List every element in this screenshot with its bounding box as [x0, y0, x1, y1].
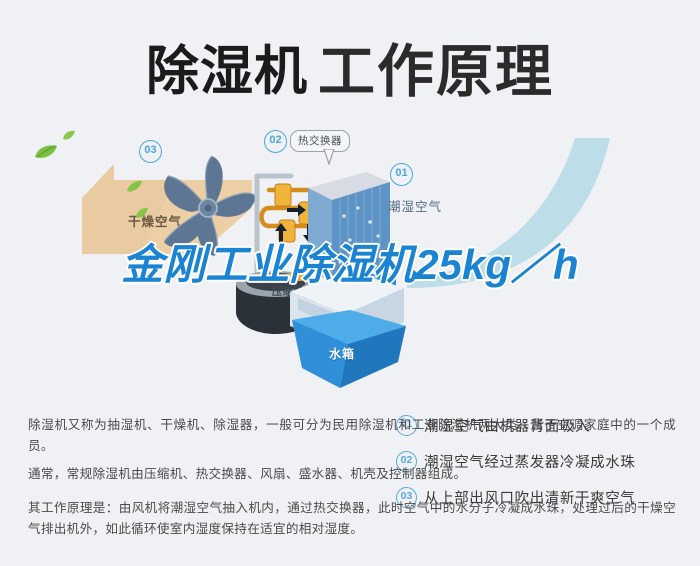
leaf-icon — [135, 206, 149, 224]
diagram-badge-02: 02 — [264, 130, 287, 153]
page-root: 除湿机工作原理 干燥空气 03 — [0, 0, 700, 566]
body-copy: 除湿机又称为抽湿机、干燥机、除湿器，一般可分为民用除湿机和工业除湿机两大类，属于… — [28, 415, 676, 547]
leaf-icon — [62, 128, 76, 146]
body-paragraph-3: 其工作原理是：由风机将潮湿空气抽入机内，通过热交换器，此时空气中的水分子冷凝成水… — [28, 498, 676, 540]
callout-tail — [323, 149, 335, 165]
leaf-icon — [126, 180, 143, 198]
dehumidifier-diagram: 干燥空气 03 — [0, 118, 700, 403]
diagram-badge-01: 01 — [390, 163, 413, 186]
page-title: 除湿机工作原理 — [0, 26, 700, 108]
leaf-icon — [34, 144, 58, 165]
moist-air-label: 潮湿空气 — [388, 196, 442, 215]
heat-exchanger-callout: 热交换器 — [290, 130, 350, 152]
water-tank-label: 水箱 — [329, 345, 355, 362]
body-paragraph-2: 通常，常规除湿机由压缩机、热交换器、风扇、盛水器、机壳及控制器组成。 — [28, 464, 676, 485]
page-title-primary: 除湿机 — [146, 42, 308, 101]
page-title-secondary: 工作原理 — [318, 40, 554, 104]
body-paragraph-1: 除湿机又称为抽湿机、干燥机、除湿器，一般可分为民用除湿机和工业除湿机两大类，属于… — [28, 415, 676, 457]
